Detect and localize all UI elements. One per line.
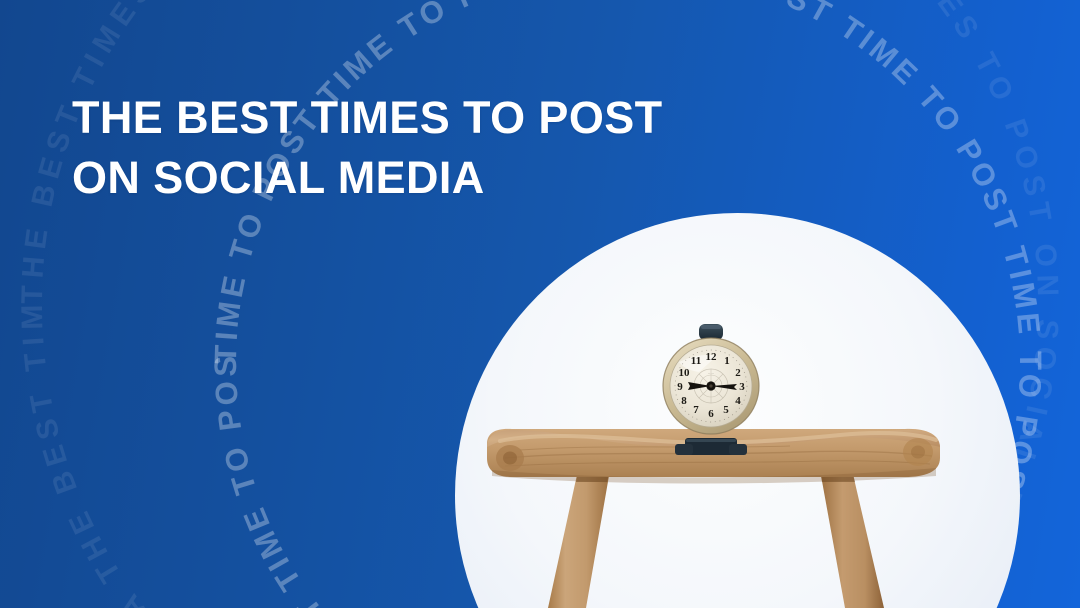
svg-text:8: 8 [681, 395, 687, 407]
alarm-clock: 12 1 2 3 4 5 6 7 8 9 10 11 ····· [655, 318, 767, 470]
svg-text:5: 5 [723, 404, 729, 416]
svg-text:4: 4 [735, 395, 741, 407]
svg-text:1: 1 [724, 355, 730, 367]
page-title: THE BEST TIMES TO POST ON SOCIAL MEDIA [72, 88, 772, 208]
stool-leg-right [820, 470, 884, 608]
svg-text:7: 7 [693, 404, 699, 416]
stool-leg-left [548, 470, 610, 608]
svg-text:9: 9 [677, 381, 683, 393]
headline-line-2: ON SOCIAL MEDIA [72, 148, 772, 208]
svg-text:2: 2 [735, 367, 741, 379]
clock-base [675, 438, 747, 455]
svg-text:3: 3 [739, 381, 745, 393]
headline-line-1: THE BEST TIMES TO POST [72, 88, 772, 148]
svg-text:10: 10 [679, 367, 691, 379]
svg-text:6: 6 [708, 408, 714, 420]
svg-text:11: 11 [691, 355, 701, 367]
clock-brand-text: ····· [708, 371, 715, 376]
poster-canvas: THE BEST TIMES TO POST ON SOCIAL MEDIA T… [0, 0, 1080, 608]
svg-text:12: 12 [706, 351, 718, 363]
